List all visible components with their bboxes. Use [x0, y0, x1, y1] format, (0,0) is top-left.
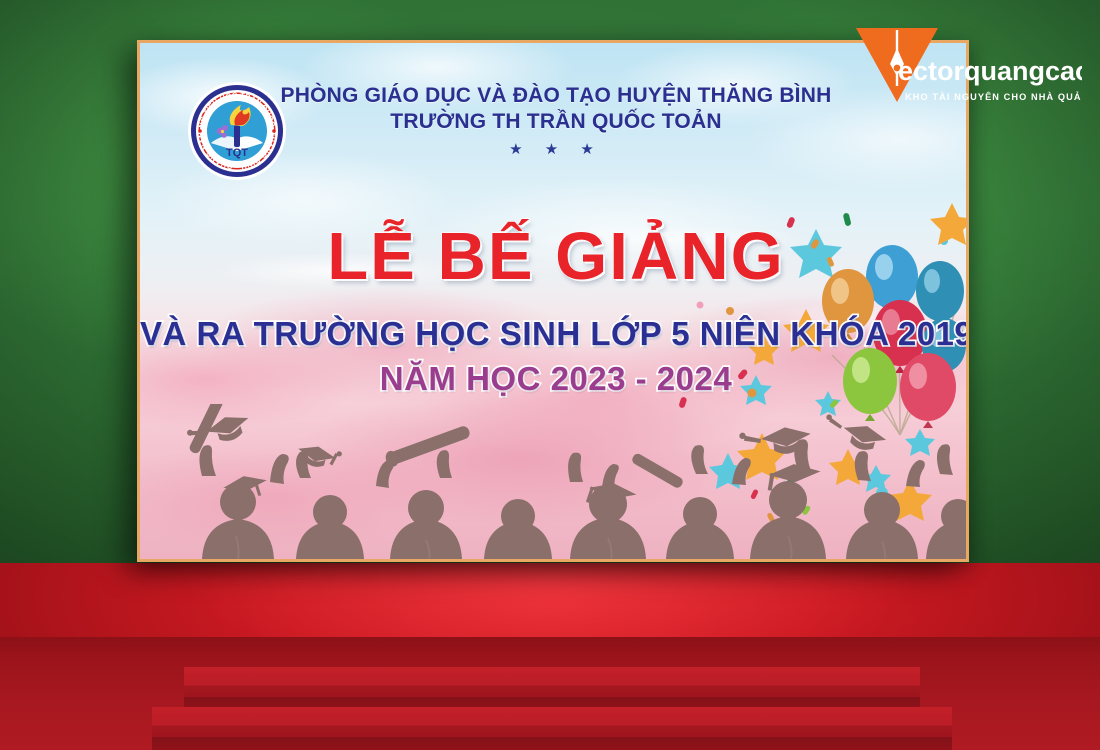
vectorquangcao-watermark: ectorquangcao.com KHO TÀI NGUYÊN CHO NHÀ…	[850, 24, 1082, 116]
school-emblem-logo: TRƯỜNG TIỂU HỌC TRẦN QUỐC TOẢN THĂNG BÌN…	[187, 81, 287, 181]
watermark-tagline-text: KHO TÀI NGUYÊN CHO NHÀ QUẢNG CÁO	[905, 91, 1082, 102]
graduates-silhouette	[140, 404, 969, 559]
stage-scene: TRƯỜNG TIỂU HỌC TRẦN QUỐC TOẢN THĂNG BÌN…	[0, 0, 1100, 750]
stage-step-lower	[152, 707, 952, 750]
main-title: LỄ BẾ GIẢNG	[140, 221, 969, 293]
stage-step-upper	[184, 667, 920, 711]
subtitle-line-2: NĂM HỌC 2023 - 2024	[140, 360, 969, 398]
watermark-brand-text: ectorquangcao.com	[898, 56, 1082, 86]
graduation-banner: TRƯỜNG TIỂU HỌC TRẦN QUỐC TOẢN THĂNG BÌN…	[137, 40, 969, 562]
subtitle-line-1: VÀ RA TRƯỜNG HỌC SINH LỚP 5 NIÊN KHÓA 20…	[140, 315, 969, 353]
logo-center-text: TQT	[226, 147, 248, 159]
